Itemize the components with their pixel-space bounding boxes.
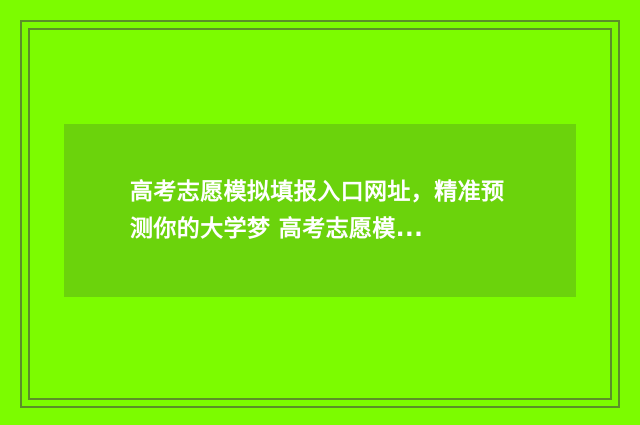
caption-text: 高考志愿模拟填报入口网址，精准预测你的大学梦 高考志愿模... <box>130 174 510 248</box>
caption-panel: 高考志愿模拟填报入口网址，精准预测你的大学梦 高考志愿模... <box>64 124 576 297</box>
image-placeholder-canvas: 高考志愿模拟填报入口网址，精准预测你的大学梦 高考志愿模... <box>0 0 640 425</box>
